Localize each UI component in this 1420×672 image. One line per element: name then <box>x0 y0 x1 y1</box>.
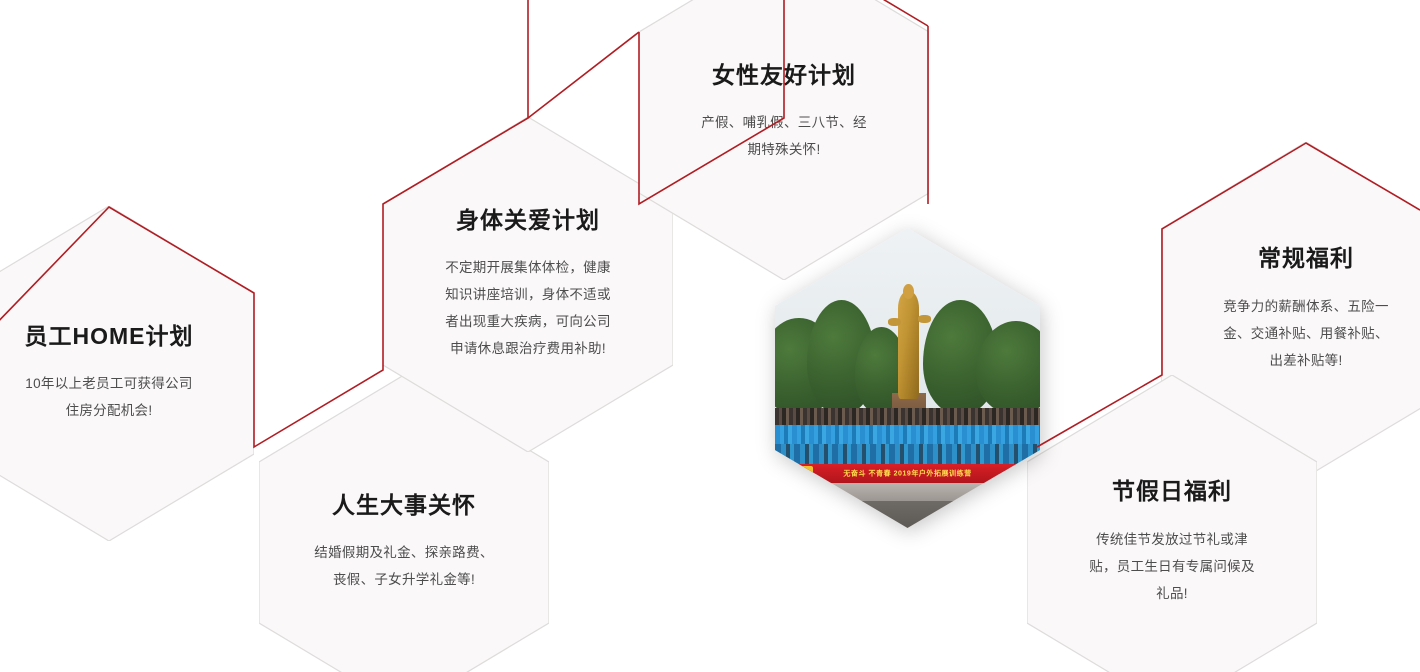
hexagon-description: 竞争力的薪酬体系、五险一 金、交通补贴、用餐补贴、 出差补贴等! <box>1223 293 1389 374</box>
benefits-hexagon-diagram: 员工HOME计划 10年以上老员工可获得公司 住房分配机会! 人生大事关怀 结婚… <box>0 0 1420 672</box>
desc-line: 住房分配机会! <box>25 397 192 424</box>
statue-arm <box>918 315 931 323</box>
hexagon-title: 常规福利 <box>1258 245 1354 273</box>
desc-line: 知识讲座培训，身体不适或 <box>445 281 611 308</box>
desc-line: 不定期开展集体体检，健康 <box>445 254 611 281</box>
desc-line: 申请休息跟治疗费用补助! <box>445 335 611 362</box>
hexagon-card-body-care-plan[interactable]: 身体关爱计划 不定期开展集体体检，健康 知识讲座培训，身体不适或 者出现重大疾病… <box>383 117 673 452</box>
hexagon-title: 节假日福利 <box>1112 478 1232 506</box>
hexagon-title: 女性友好计划 <box>712 62 856 90</box>
desc-line: 10年以上老员工可获得公司 <box>25 370 192 397</box>
hexagon-card-employee-home-plan[interactable]: 员工HOME计划 10年以上老员工可获得公司 住房分配机会! <box>0 206 254 541</box>
hexagon-title: 身体关爱计划 <box>456 207 600 235</box>
desc-line: 产假、哺乳假、三八节、经 <box>701 109 867 136</box>
hexagon-description: 传统佳节发放过节礼或津 贴，员工生日有专属问候及 礼品! <box>1089 526 1255 607</box>
hexagon-content: 身体关爱计划 不定期开展集体体检，健康 知识讲座培训，身体不适或 者出现重大疾病… <box>383 117 673 452</box>
desc-line: 金、交通补贴、用餐补贴、 <box>1223 320 1389 347</box>
desc-line: 丧假、子女升学礼金等! <box>314 566 493 593</box>
desc-line: 竞争力的薪酬体系、五险一 <box>1223 293 1389 320</box>
team-photo-image: 无奋斗 不青春 2019年户外拓展训练营 <box>775 228 1040 528</box>
desc-line: 结婚假期及礼金、探亲路费、 <box>314 539 493 566</box>
hexagon-content: 员工HOME计划 10年以上老员工可获得公司 住房分配机会! <box>0 206 254 541</box>
desc-line: 传统佳节发放过节礼或津 <box>1089 526 1255 553</box>
statue-head <box>903 284 914 300</box>
banner-text: 无奋斗 不青春 2019年户外拓展训练营 <box>843 469 971 478</box>
desc-line: 者出现重大疾病，可向公司 <box>445 308 611 335</box>
desc-line: 礼品! <box>1089 580 1255 607</box>
photo-scene: 无奋斗 不青春 2019年户外拓展训练营 <box>775 228 1040 528</box>
hexagon-title: 员工HOME计划 <box>25 323 194 351</box>
hexagon-title: 人生大事关怀 <box>332 492 476 520</box>
banner-logo-icon <box>796 466 814 480</box>
hexagon-card-holiday-benefits[interactable]: 节假日福利 传统佳节发放过节礼或津 贴，员工生日有专属问候及 礼品! <box>1027 375 1317 672</box>
event-banner: 无奋斗 不青春 2019年户外拓展训练营 <box>780 464 1034 484</box>
plaza-steps <box>775 483 1040 501</box>
crowd-heads <box>775 408 1040 425</box>
hexagon-description: 10年以上老员工可获得公司 住房分配机会! <box>25 370 192 424</box>
hexagon-content: 节假日福利 传统佳节发放过节礼或津 贴，员工生日有专属问候及 礼品! <box>1027 375 1317 672</box>
plaza-pavement <box>775 501 1040 528</box>
statue-arm <box>888 318 901 326</box>
golden-statue-icon <box>898 291 919 399</box>
team-photo-hexagon[interactable]: 无奋斗 不青春 2019年户外拓展训练营 <box>775 228 1040 528</box>
desc-line: 贴，员工生日有专属问候及 <box>1089 553 1255 580</box>
hexagon-description: 产假、哺乳假、三八节、经 期特殊关怀! <box>701 109 867 163</box>
desc-line: 出差补贴等! <box>1223 347 1389 374</box>
hexagon-description: 不定期开展集体体检，健康 知识讲座培训，身体不适或 者出现重大疾病，可向公司 申… <box>445 254 611 362</box>
desc-line: 期特殊关怀! <box>701 136 867 163</box>
hexagon-description: 结婚假期及礼金、探亲路费、 丧假、子女升学礼金等! <box>314 539 493 593</box>
